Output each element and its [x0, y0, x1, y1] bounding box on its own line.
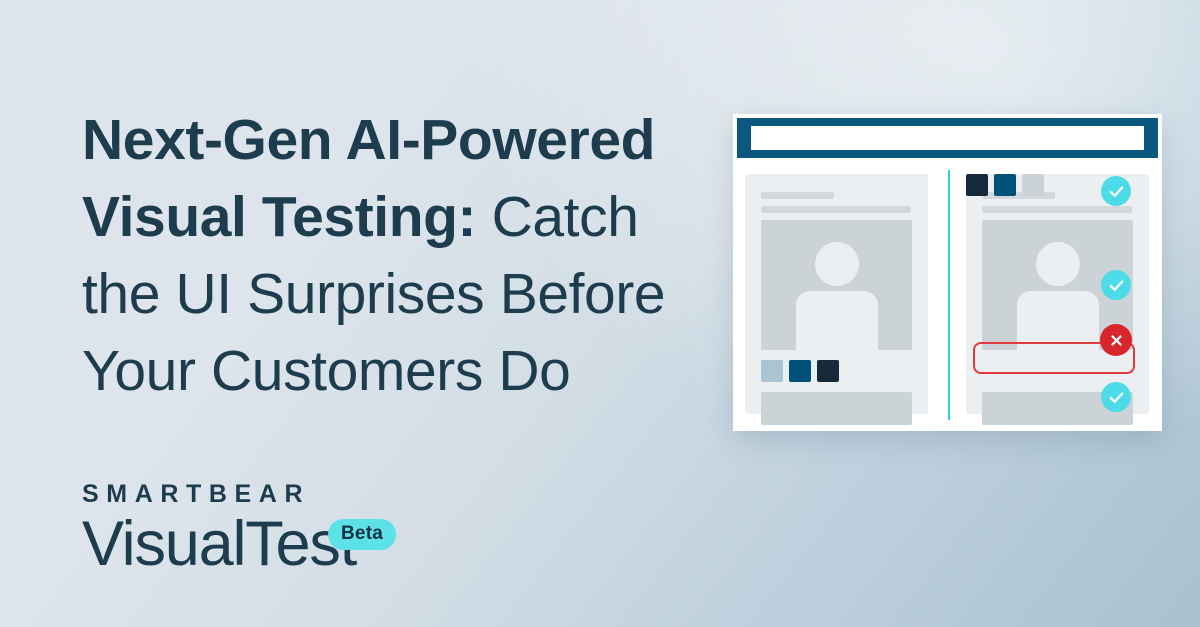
baseline-swatch [789, 360, 811, 382]
baseline-swatch-row [761, 360, 839, 382]
baseline-swatch [817, 360, 839, 382]
beta-badge: Beta [328, 519, 396, 550]
check-icon [1101, 270, 1131, 300]
comparison-swatch [966, 174, 988, 196]
skeleton-line [761, 206, 911, 213]
company-wordmark: SMARTBEAR [82, 482, 356, 507]
product-wordmark: VisualTest [82, 511, 356, 577]
address-bar [751, 126, 1144, 150]
page-title: Next-Gen AI-Powered Visual Testing: Catc… [82, 102, 682, 410]
browser-mockup-illustration [733, 114, 1162, 431]
brand-logo: SMARTBEAR VisualTest Beta [82, 482, 356, 577]
footer-block-placeholder [761, 392, 912, 425]
avatar-body-icon [796, 291, 878, 350]
comparison-swatch [1022, 174, 1044, 196]
promo-banner: Next-Gen AI-Powered Visual Testing: Catc… [0, 0, 1200, 627]
avatar-head-icon [1036, 242, 1080, 286]
comparison-swatch-row [966, 174, 1044, 196]
hero-image-placeholder [761, 220, 912, 350]
skeleton-line [761, 192, 834, 199]
skeleton-line [982, 206, 1132, 213]
browser-chrome-bar [737, 118, 1158, 158]
avatar-head-icon [815, 242, 859, 286]
baseline-screenshot-panel [745, 174, 928, 414]
baseline-swatch [761, 360, 783, 382]
error-cross-icon [1100, 324, 1132, 356]
product-lockup: VisualTest Beta [82, 511, 356, 577]
check-icon [1101, 176, 1131, 206]
browser-viewport [733, 158, 1162, 431]
comparison-swatch [994, 174, 1016, 196]
check-icon [1101, 382, 1131, 412]
comparison-divider [948, 170, 950, 420]
